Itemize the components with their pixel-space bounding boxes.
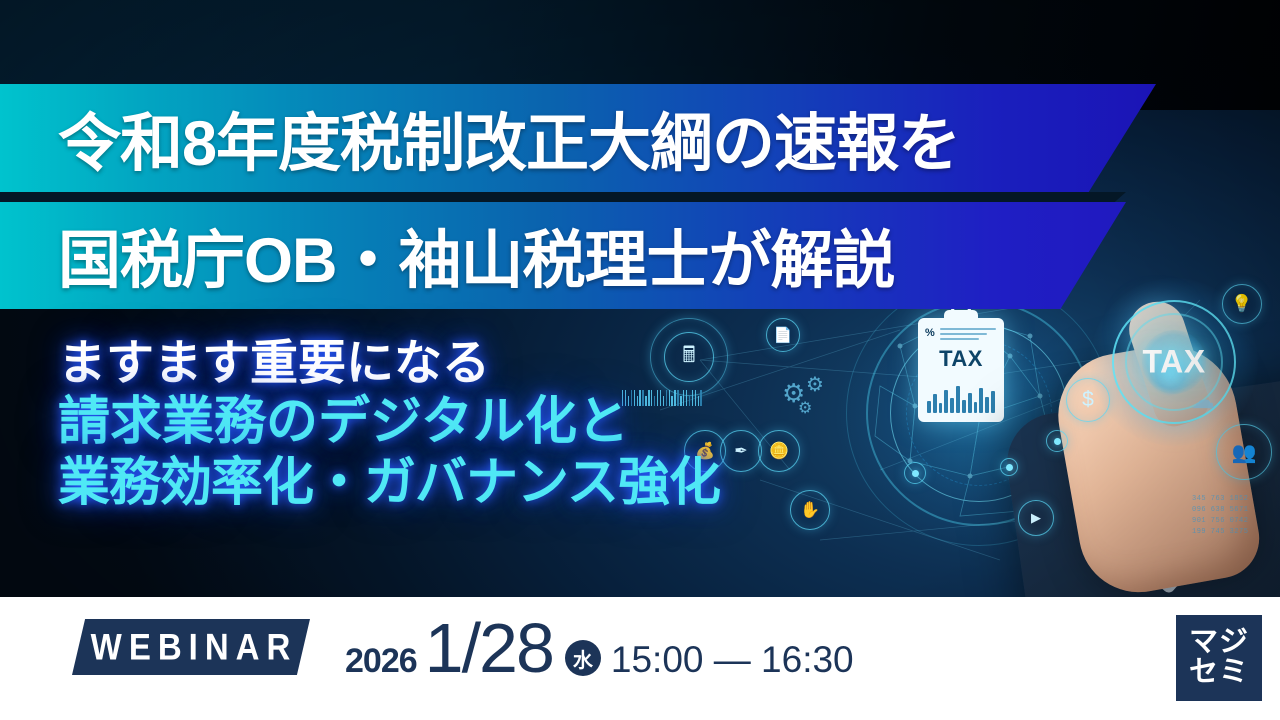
- webinar-badge: WEBINAR: [72, 619, 310, 675]
- footer-bar: WEBINAR 2026 1/28 水 15:00 — 16:30 マジ セミ: [0, 597, 1280, 720]
- webinar-banner: % TAX: [0, 0, 1280, 720]
- title-band-1: 令和8年度税制改正大綱の速報を: [0, 84, 1156, 192]
- day-of-week-badge: 水: [565, 640, 601, 676]
- title-line-2: 国税庁OB・袖山税理士が解説: [58, 210, 895, 301]
- event-date: 1/28: [425, 613, 553, 683]
- band-separator: [0, 192, 1126, 202]
- event-time: 15:00 — 16:30: [611, 639, 854, 681]
- majisemi-logo[interactable]: マジ セミ: [1176, 615, 1262, 701]
- title-line-1: 令和8年度税制改正大綱の速報を: [58, 93, 960, 184]
- logo-line-2: セミ: [1189, 658, 1249, 688]
- subtitle-block: ますます重要になる 請求業務のデジタル化と 業務効率化・ガバナンス強化: [58, 336, 720, 514]
- title-band-2: 国税庁OB・袖山税理士が解説: [0, 202, 1126, 309]
- logo-line-1: マジ: [1189, 628, 1249, 658]
- webinar-badge-label: WEBINAR: [85, 626, 298, 669]
- subtitle-line-2: 請求業務のデジタル化と: [58, 392, 720, 453]
- event-datetime: 2026 1/28 水 15:00 — 16:30: [345, 613, 854, 683]
- event-year: 2026: [345, 642, 417, 681]
- subtitle-line-1: ますます重要になる: [58, 336, 720, 392]
- subtitle-line-3: 業務効率化・ガバナンス強化: [58, 453, 720, 514]
